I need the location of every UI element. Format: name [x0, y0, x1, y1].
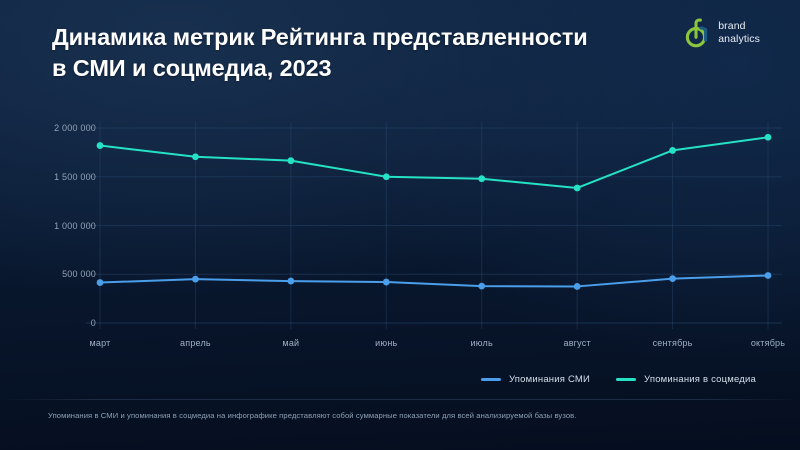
data-point-smi-6[interactable]: [669, 275, 676, 282]
x-axis-label-0: март: [90, 338, 111, 348]
data-point-smi-4[interactable]: [478, 283, 485, 290]
data-point-socmedia-4[interactable]: [478, 175, 485, 182]
data-point-smi-1[interactable]: [192, 276, 199, 283]
footnote-text: Упоминания в СМИ и упоминания в соцмедиа…: [48, 411, 760, 422]
data-point-socmedia-0[interactable]: [97, 142, 104, 149]
data-point-socmedia-3[interactable]: [383, 173, 390, 180]
x-axis-label-3: июнь: [375, 338, 397, 348]
y-axis-label: 1 000 000: [54, 221, 96, 231]
series-line-smi: [100, 276, 768, 287]
legend-item-smi[interactable]: Упоминания СМИ: [481, 374, 590, 385]
chart-legend: Упоминания СМИ Упоминания в соцмедиа: [481, 374, 756, 385]
data-point-socmedia-7[interactable]: [765, 134, 772, 141]
x-axis-label-7: октябрь: [751, 338, 785, 348]
series-line-socmedia: [100, 137, 768, 188]
infographic-slide: Динамика метрик Рейтинга представленност…: [0, 0, 800, 450]
footnote-divider: [0, 399, 800, 400]
legend-item-socmedia[interactable]: Упоминания в соцмедиа: [616, 374, 756, 385]
data-point-socmedia-6[interactable]: [669, 147, 676, 154]
y-axis-label: 0: [91, 318, 96, 328]
data-point-socmedia-5[interactable]: [574, 185, 581, 192]
legend-swatch-smi: [481, 378, 501, 381]
y-axis-label: 2 000 000: [54, 123, 96, 133]
legend-label-socmedia: Упоминания в соцмедиа: [644, 374, 756, 385]
data-point-socmedia-2[interactable]: [287, 157, 294, 164]
data-point-smi-3[interactable]: [383, 279, 390, 286]
data-point-smi-2[interactable]: [287, 278, 294, 285]
data-point-smi-0[interactable]: [97, 279, 104, 286]
x-axis-label-6: сентябрь: [653, 338, 693, 348]
y-axis-label: 500 000: [62, 269, 96, 279]
data-point-smi-7[interactable]: [765, 272, 772, 279]
data-point-socmedia-1[interactable]: [192, 153, 199, 160]
x-axis-label-4: июль: [471, 338, 493, 348]
legend-label-smi: Упоминания СМИ: [509, 374, 590, 385]
y-axis-tick-labels: 0500 0001 000 0001 500 0002 000 000: [34, 0, 96, 450]
x-axis-label-2: май: [282, 338, 299, 348]
x-axis-label-1: апрель: [180, 338, 211, 348]
data-point-smi-5[interactable]: [574, 283, 581, 290]
x-axis-label-5: август: [563, 338, 590, 348]
legend-swatch-socmedia: [616, 378, 636, 381]
y-axis-label: 1 500 000: [54, 172, 96, 182]
